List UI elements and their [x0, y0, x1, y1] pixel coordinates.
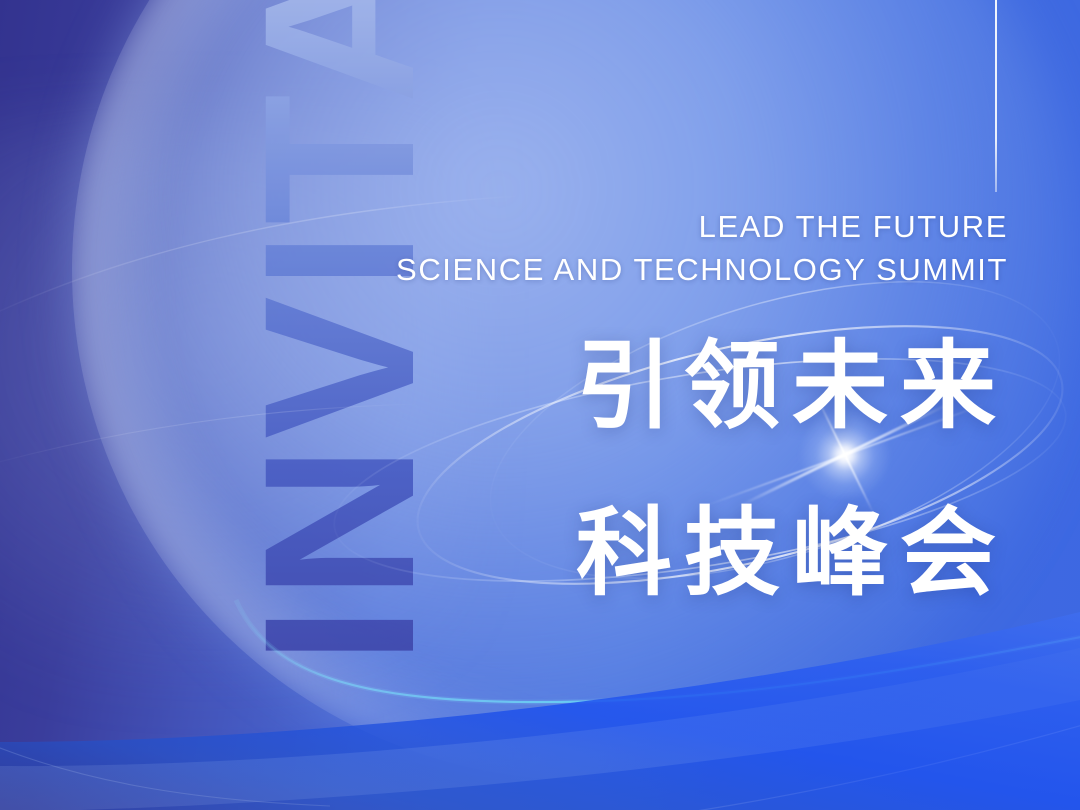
vertical-rule — [995, 0, 997, 192]
flare-core — [799, 409, 891, 501]
invitation-poster: INVITATION — [0, 0, 1080, 810]
light-sphere-rim — [72, 0, 1080, 780]
vertical-invitation-word: INVITATION — [210, 0, 470, 665]
diagonal-light-band — [0, 0, 1080, 810]
headline-block: LEAD THE FUTURE SCIENCE AND TECHNOLOGY S… — [328, 206, 1008, 623]
subtitle-en-line-1: LEAD THE FUTURE — [328, 206, 1008, 247]
title-cn-line-2: 科技峰会 — [328, 483, 1008, 623]
flare-ray-long — [704, 403, 986, 507]
light-sphere-glow — [75, 0, 1080, 775]
title-cn-line-1: 引领未来 — [328, 316, 1008, 456]
flare-ray-main — [738, 402, 952, 508]
flare-ray-cross — [815, 395, 875, 515]
subtitle-en-line-2: SCIENCE AND TECHNOLOGY SUMMIT — [328, 249, 1008, 290]
orbit-rings — [0, 0, 1080, 810]
left-haze-glow — [0, 120, 460, 680]
vertical-invitation-text: INVITATION — [233, 0, 447, 665]
